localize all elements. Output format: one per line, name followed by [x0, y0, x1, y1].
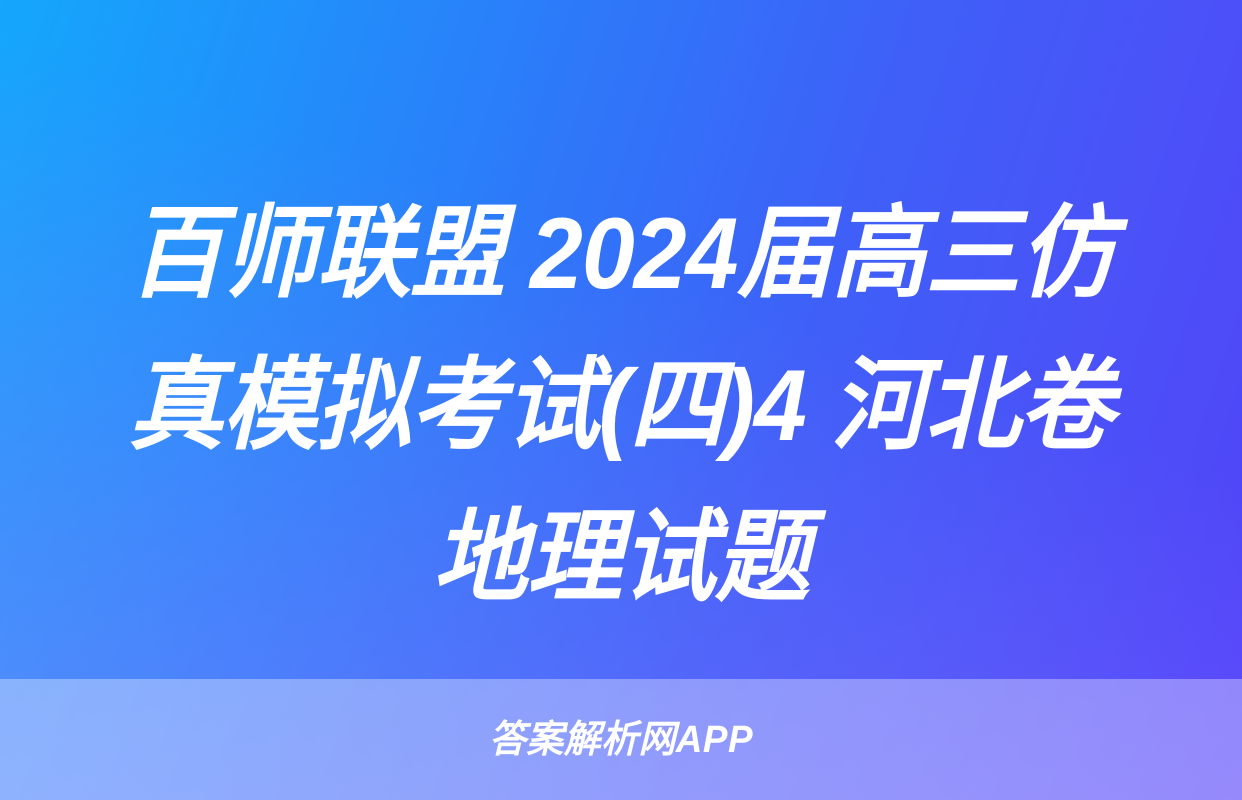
title-line-2: 真模拟考试(四)4 河北卷: [75, 330, 1167, 482]
poster-title: 百师联盟 2024届高三仿 真模拟考试(四)4 河北卷 地理试题: [0, 178, 1242, 634]
title-line-3: 地理试题: [75, 482, 1167, 634]
poster-canvas: 百师联盟 2024届高三仿 真模拟考试(四)4 河北卷 地理试题 答案解析网AP…: [0, 0, 1242, 800]
footer-watermark-band: 答案解析网APP: [0, 679, 1242, 800]
app-watermark-label: 答案解析网APP: [489, 721, 753, 759]
title-line-1: 百师联盟 2024届高三仿: [75, 178, 1167, 330]
